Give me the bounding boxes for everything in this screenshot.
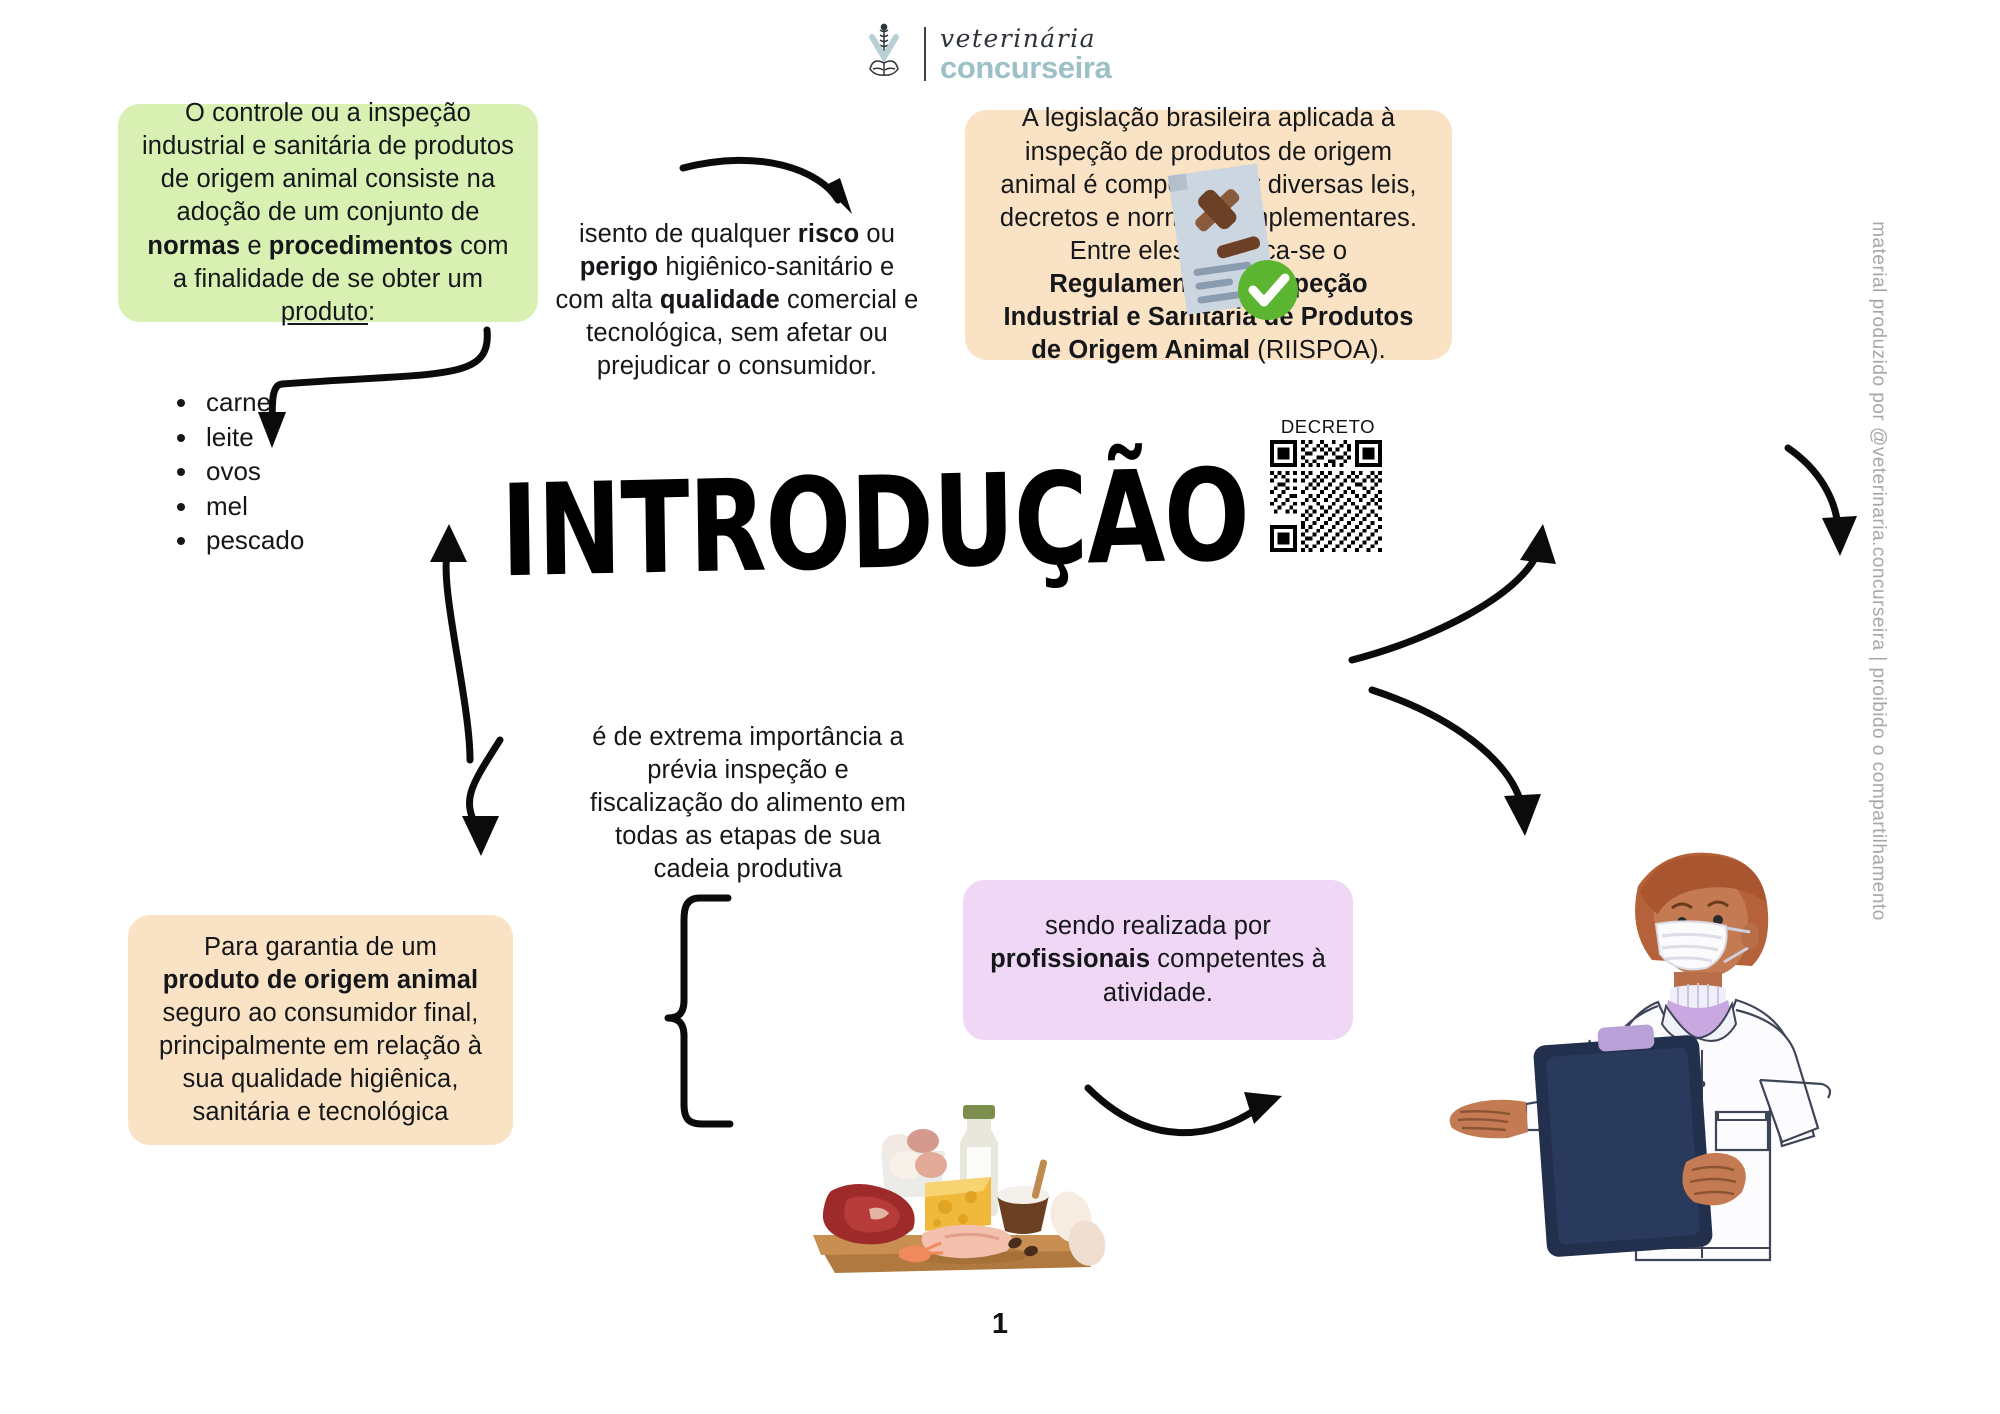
gavel-document-approved-icon [1150,150,1310,340]
garantia-produto-card: Para garantia de um produto de origem an… [128,915,513,1145]
list-item: leite [200,420,420,455]
page-number: 1 [0,1308,2000,1341]
page-title: INTRODUÇÃO [500,456,1045,595]
list-item: mel [200,489,420,524]
veterinarian-with-clipboard-illustration [1430,840,1870,1310]
brand-logo: veterinária concurseira [858,18,1158,90]
cadeia-produtiva-text-block: é de extrema importância a prévia inspeç… [588,695,908,912]
list-item: pescado [200,523,420,558]
isento-risco-text: isento de qualquer risco ou perigo higiê… [552,218,922,384]
logo-script-word: veterinária [940,26,1111,51]
logo-bold-word: concurseira [940,52,1111,83]
produtos-list-ul: carneleiteovosmelpescado [160,385,420,558]
garantia-produto-text: Para garantia de um produto de origem an… [154,931,487,1130]
profissionais-text: sendo realizada por profissionais compet… [989,910,1327,1009]
controle-inspecao-text: O controle ou a inspeção industrial e sa… [140,97,516,329]
cadeia-produtiva-text: é de extrema importância a prévia inspeç… [588,721,908,887]
logo-divider [924,27,926,81]
isento-risco-text-block: isento de qualquer risco ou perigo higiê… [552,192,922,409]
food-board-illustration [795,1085,1115,1300]
list-item: ovos [200,454,420,489]
controle-inspecao-card: O controle ou a inspeção industrial e sa… [118,104,538,322]
produtos-list: carneleiteovosmelpescado [160,385,420,558]
profissionais-card: sendo realizada por profissionais compet… [963,880,1353,1040]
watermark-text: material produzido por @veterinaria.conc… [1867,211,1889,931]
poster-page: veterinária concurseira O controle ou a … [0,0,2000,1414]
list-item: carne [200,385,420,420]
qr-code-icon[interactable] [1258,440,1394,552]
caduceus-book-logo-icon [858,23,910,85]
